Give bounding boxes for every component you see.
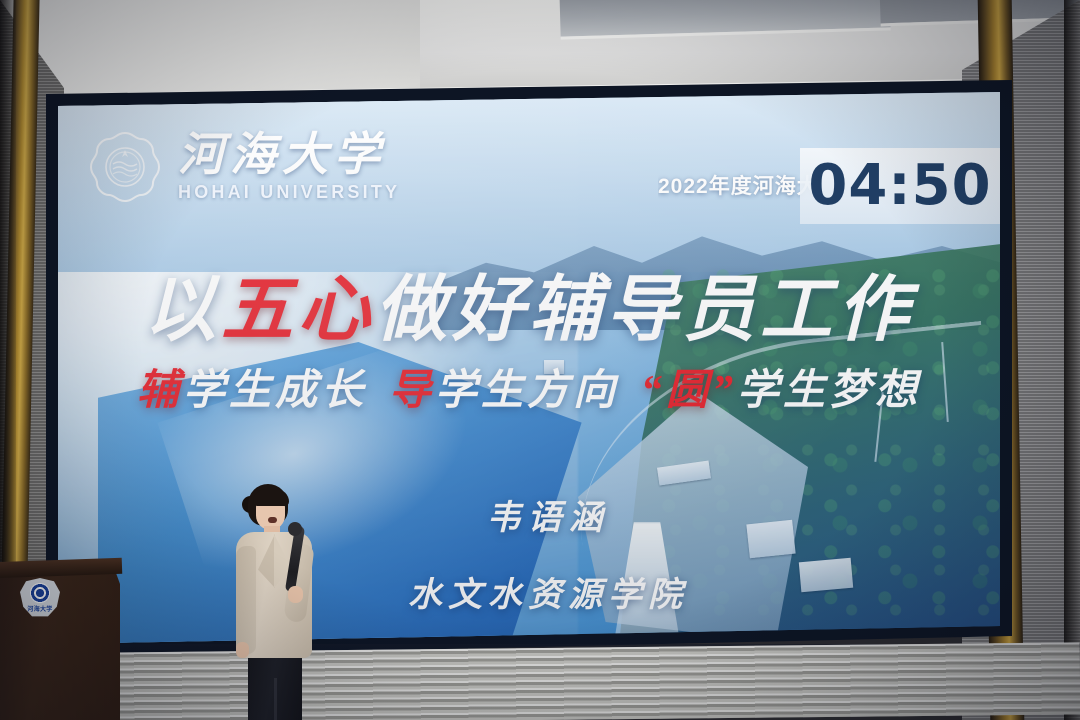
- wall-edge-shadow-right: [1064, 0, 1080, 720]
- screenshot-root: 河海大学 HOHAI UNIVERSITY 2022年度河海大 04:50 以五…: [0, 0, 1080, 720]
- hohai-university-emblem-icon: [88, 130, 162, 204]
- subtitle-accent-3: “圆”: [641, 368, 737, 414]
- lectern-plaque-text: 河海大学: [27, 604, 52, 613]
- subtitle-rest-3: 学生梦想: [737, 368, 921, 414]
- subtitle-accent-2: 导: [389, 368, 435, 414]
- lectern-emblem-icon: [30, 583, 50, 603]
- logo-chinese-name: 河海大学: [178, 131, 400, 179]
- lectern: [0, 562, 120, 720]
- logo-english-name: HOHAI UNIVERSITY: [178, 182, 400, 203]
- presenter-department: 水文水资源学院: [348, 567, 748, 616]
- slide-title-part-3: 做好辅导员工作: [375, 270, 914, 350]
- subtitle-accent-1: 辅: [137, 368, 183, 414]
- stage-front-panel: [0, 642, 1080, 720]
- slide-title: 以五心做好辅导员工作: [58, 274, 1000, 346]
- screen-bg-building: [746, 520, 795, 559]
- person-hand-right: [288, 586, 303, 603]
- countdown-timer-value: 04:50: [808, 158, 991, 214]
- microphone-head-icon: [288, 522, 302, 536]
- person-hand-left: [236, 642, 249, 658]
- slide-title-part-1: 以: [144, 270, 221, 350]
- person-arm-left: [236, 546, 256, 654]
- led-screen: 河海大学 HOHAI UNIVERSITY 2022年度河海大 04:50 以五…: [58, 92, 1000, 644]
- subtitle-rest-2: 学生方向: [435, 368, 619, 414]
- person-leg-split: [274, 678, 277, 720]
- screen-bg-building: [799, 558, 853, 592]
- presenter-person: [222, 482, 332, 720]
- presenter-block: 韦语涵 水文水资源学院: [348, 490, 748, 616]
- slide-title-part-2: 五心: [221, 270, 375, 350]
- countdown-timer[interactable]: 04:50: [800, 148, 1000, 224]
- person-hair-fringe: [253, 489, 289, 506]
- subtitle-rest-1: 学生成长: [183, 368, 367, 414]
- ceiling-soffit-left: [0, 0, 420, 96]
- presenter-name: 韦语涵: [348, 490, 748, 539]
- person-mouth: [268, 517, 277, 523]
- university-logo: 河海大学 HOHAI UNIVERSITY: [88, 130, 400, 204]
- slide-subtitle: 辅学生成长导学生方向“圆”学生梦想: [58, 370, 1000, 412]
